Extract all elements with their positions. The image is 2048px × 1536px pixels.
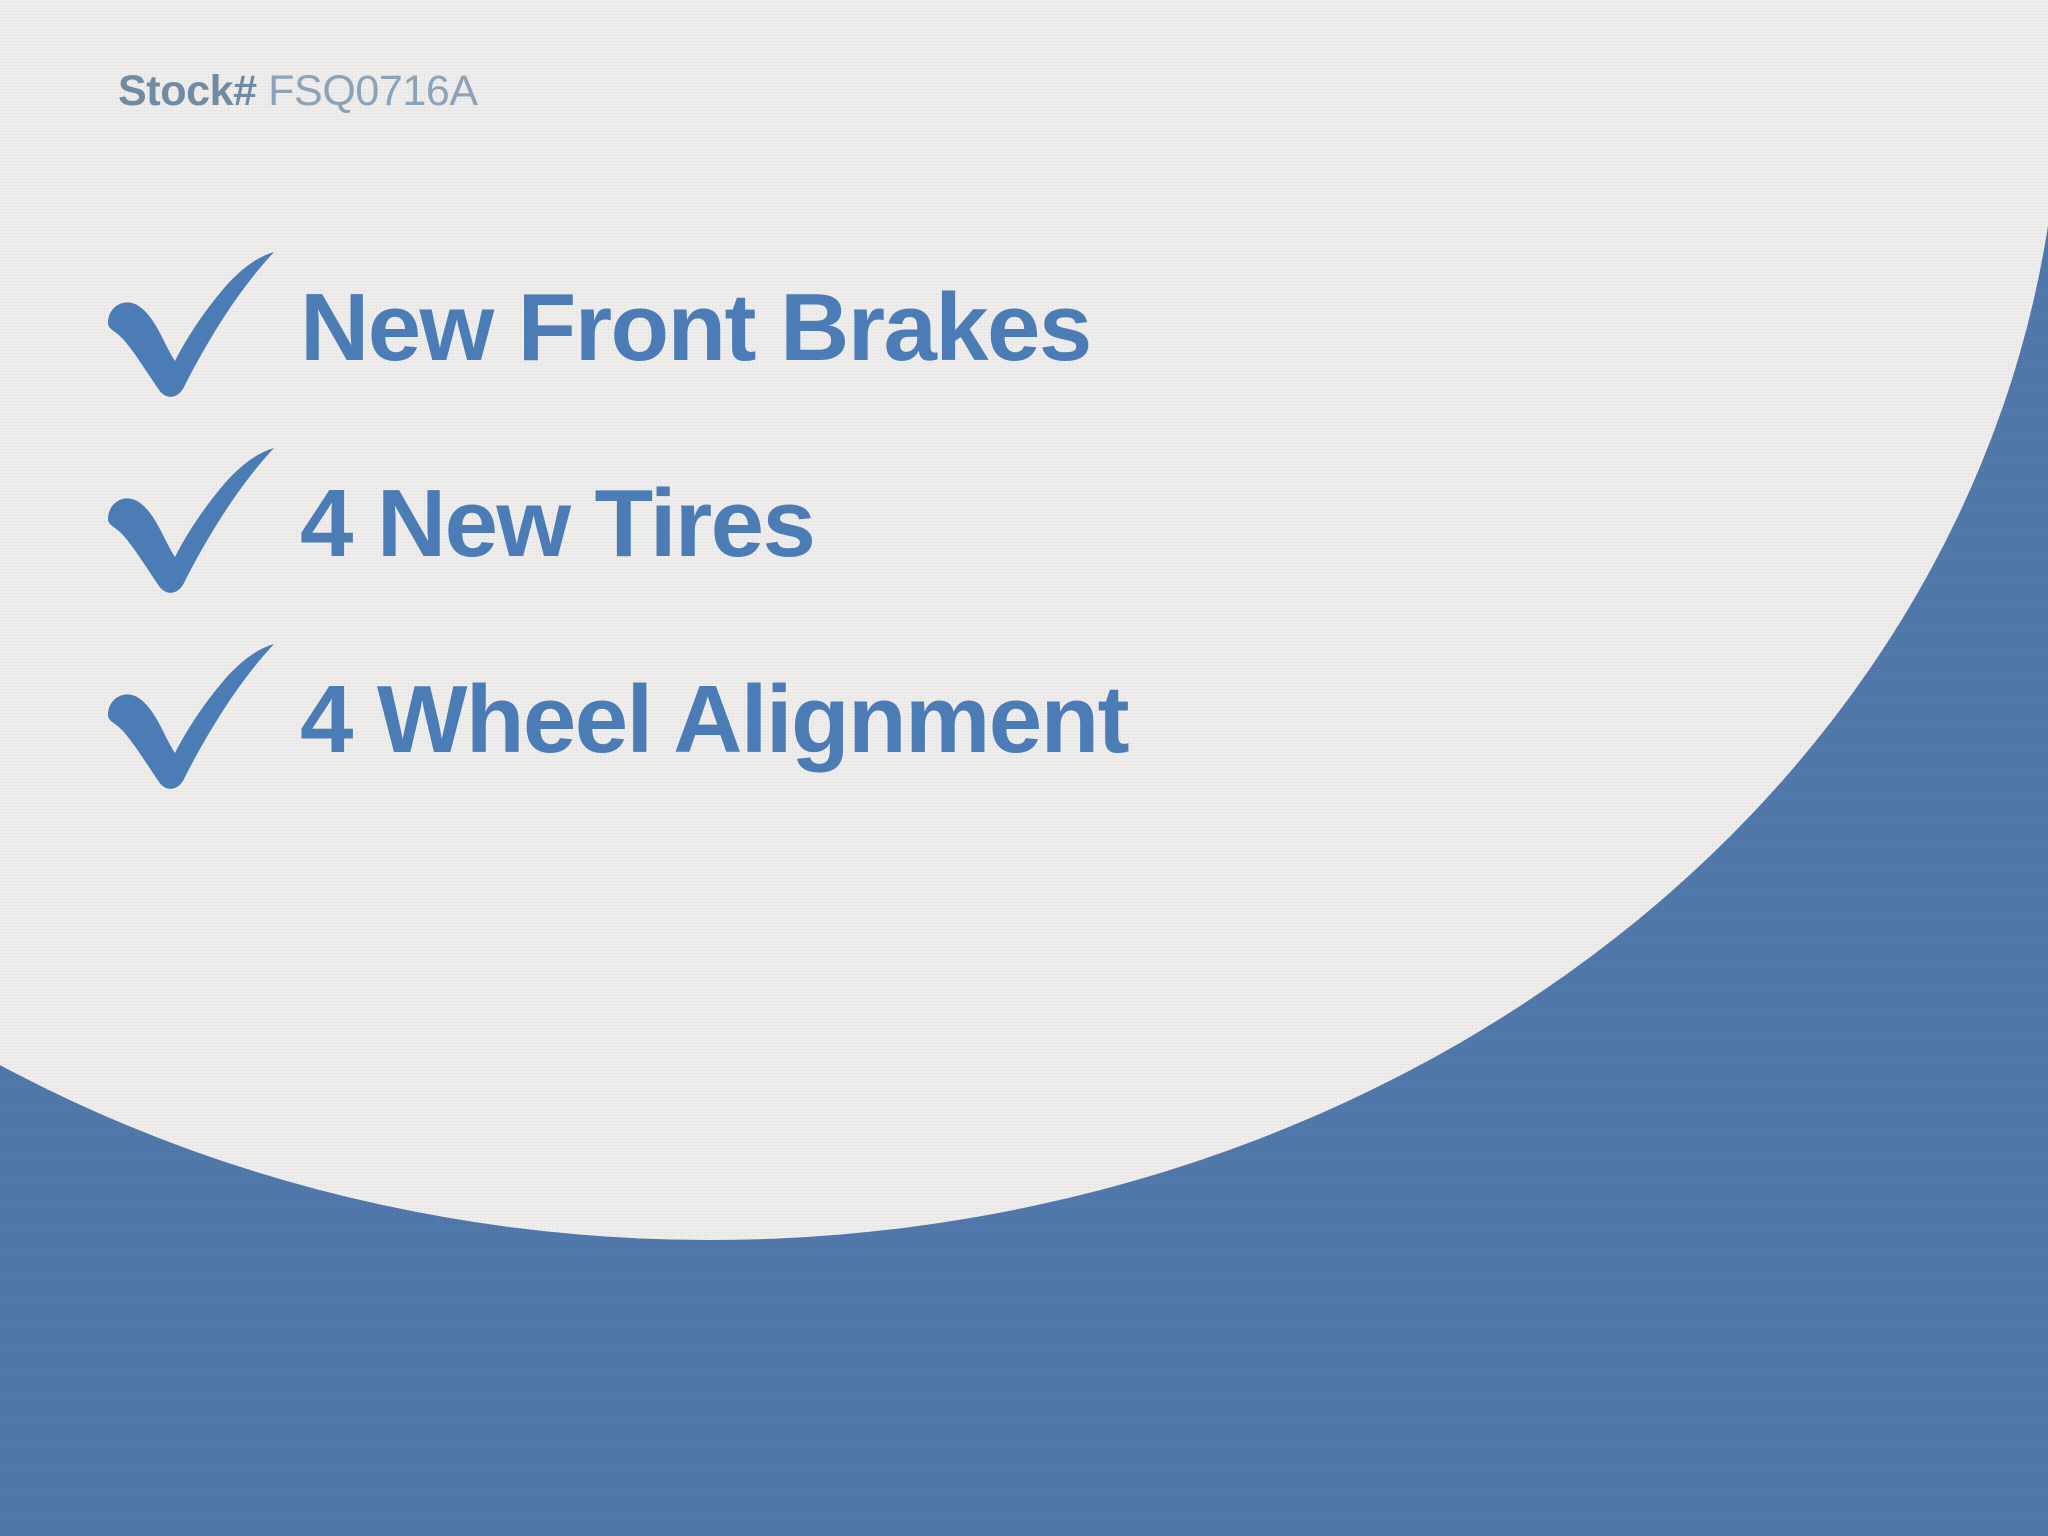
checkmark-icon (104, 447, 294, 597)
feature-item: 4 Wheel Alignment (104, 620, 1604, 816)
checkmark-icon (104, 251, 294, 401)
stock-number: Stock# FSQ0716A (118, 70, 478, 113)
feature-label: New Front Brakes (300, 280, 1091, 376)
stock-number-value: FSQ0716A (268, 67, 478, 115)
checkmark-icon (104, 643, 294, 793)
promo-graphic: Stock# FSQ0716A New Front Brakes 4 New T… (0, 0, 2048, 1536)
stock-number-label: Stock# (118, 67, 257, 115)
feature-label: 4 Wheel Alignment (300, 672, 1128, 768)
feature-item: New Front Brakes (104, 228, 1604, 424)
feature-list: New Front Brakes 4 New Tires 4 Wheel Ali… (104, 228, 1604, 816)
feature-label: 4 New Tires (300, 476, 814, 572)
feature-item: 4 New Tires (104, 424, 1604, 620)
